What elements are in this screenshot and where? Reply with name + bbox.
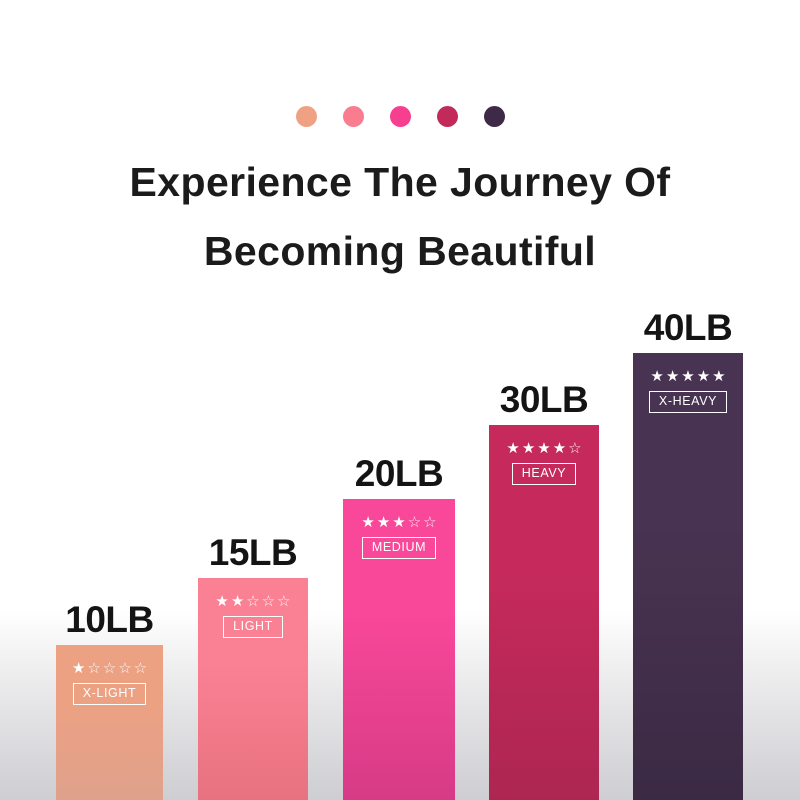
- star-filled-icon: ★: [650, 369, 663, 384]
- dot-x-light: [296, 106, 317, 127]
- star-filled-icon: ★: [377, 515, 390, 530]
- star-filled-icon: ★: [553, 441, 566, 456]
- bar[interactable]: ★★★★★X-HEAVY: [633, 353, 743, 800]
- star-filled-icon: ★: [392, 515, 405, 530]
- star-empty-icon: ☆: [277, 594, 290, 609]
- star-empty-icon: ☆: [134, 661, 147, 676]
- bar-group[interactable]: 10LB★☆☆☆☆X-LIGHT: [56, 645, 163, 800]
- bar-group[interactable]: 15LB★★☆☆☆LIGHT: [198, 578, 308, 800]
- bar-group[interactable]: 40LB★★★★★X-HEAVY: [633, 353, 743, 800]
- bar-value-label: 10LB: [65, 601, 153, 638]
- star-rating: ★★★★★: [650, 369, 725, 384]
- star-filled-icon: ★: [537, 441, 550, 456]
- star-rating: ★★★☆☆: [361, 515, 436, 530]
- page-title-line-2: Becoming Beautiful: [0, 217, 800, 286]
- bar-rating-block: ★★★☆☆MEDIUM: [343, 515, 455, 559]
- star-filled-icon: ★: [712, 369, 725, 384]
- star-filled-icon: ★: [681, 369, 694, 384]
- star-empty-icon: ☆: [103, 661, 116, 676]
- page-title: Experience The Journey Of Becoming Beaut…: [0, 148, 800, 286]
- star-filled-icon: ★: [666, 369, 679, 384]
- dot-light: [343, 106, 364, 127]
- bar-rating-block: ★★★★★X-HEAVY: [633, 369, 743, 413]
- bar-group[interactable]: 30LB★★★★☆HEAVY: [489, 425, 599, 800]
- bar-rating-block: ★★★★☆HEAVY: [489, 441, 599, 485]
- bar[interactable]: ★★★★☆HEAVY: [489, 425, 599, 800]
- bar[interactable]: ★★☆☆☆LIGHT: [198, 578, 308, 800]
- star-empty-icon: ☆: [118, 661, 131, 676]
- bar-group[interactable]: 20LB★★★☆☆MEDIUM: [343, 499, 455, 800]
- bar-value-label: 15LB: [209, 534, 297, 571]
- star-empty-icon: ☆: [246, 594, 259, 609]
- bar-rating-block: ★★☆☆☆LIGHT: [198, 594, 308, 638]
- dot-medium: [390, 106, 411, 127]
- star-empty-icon: ☆: [87, 661, 100, 676]
- bar-value-label: 20LB: [355, 455, 443, 492]
- star-filled-icon: ★: [697, 369, 710, 384]
- star-empty-icon: ☆: [423, 515, 436, 530]
- star-filled-icon: ★: [522, 441, 535, 456]
- page-title-line-1: Experience The Journey Of: [0, 148, 800, 217]
- bar[interactable]: ★★★☆☆MEDIUM: [343, 499, 455, 800]
- dot-heavy: [437, 106, 458, 127]
- bar-value-label: 30LB: [500, 381, 588, 418]
- bar[interactable]: ★☆☆☆☆X-LIGHT: [56, 645, 163, 800]
- star-filled-icon: ★: [506, 441, 519, 456]
- star-filled-icon: ★: [215, 594, 228, 609]
- star-filled-icon: ★: [361, 515, 374, 530]
- star-empty-icon: ☆: [568, 441, 581, 456]
- bar-fill: [633, 353, 743, 800]
- bar-rating-block: ★☆☆☆☆X-LIGHT: [56, 661, 163, 705]
- star-rating: ★☆☆☆☆: [72, 661, 147, 676]
- star-rating: ★★☆☆☆: [215, 594, 290, 609]
- color-swatch-row: [0, 106, 800, 127]
- grade-badge: HEAVY: [512, 463, 576, 485]
- promo-infographic: Experience The Journey Of Becoming Beaut…: [0, 0, 800, 800]
- star-filled-icon: ★: [72, 661, 85, 676]
- grade-badge: X-HEAVY: [649, 391, 727, 413]
- dot-x-heavy: [484, 106, 505, 127]
- bar-value-label: 40LB: [644, 309, 732, 346]
- star-empty-icon: ☆: [408, 515, 421, 530]
- grade-badge: X-LIGHT: [73, 683, 147, 705]
- grade-badge: LIGHT: [223, 616, 283, 638]
- grade-badge: MEDIUM: [362, 537, 436, 559]
- star-filled-icon: ★: [231, 594, 244, 609]
- star-rating: ★★★★☆: [506, 441, 581, 456]
- star-empty-icon: ☆: [262, 594, 275, 609]
